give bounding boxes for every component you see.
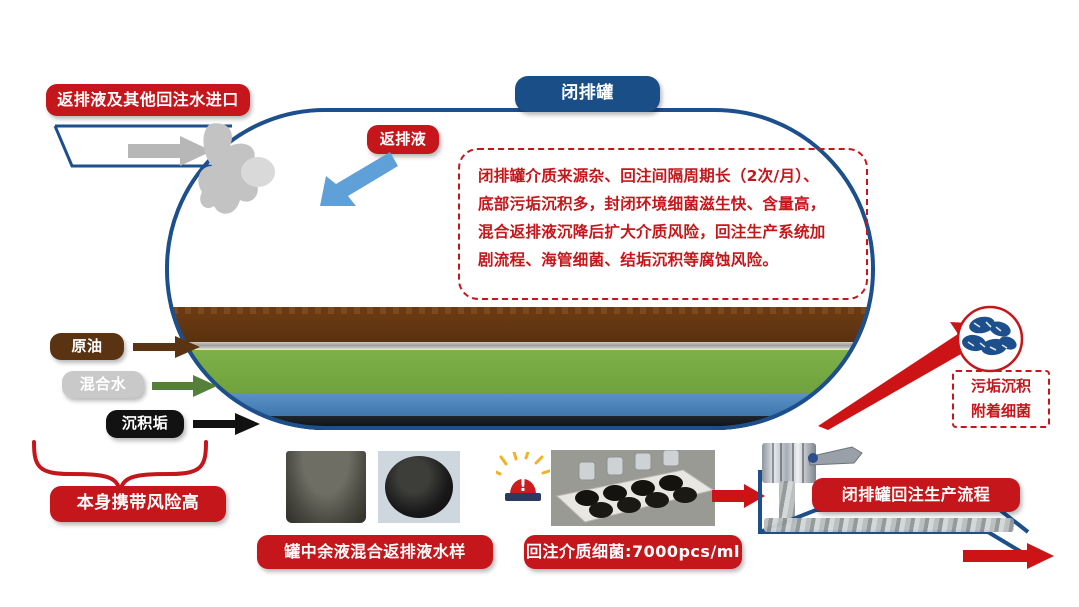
- diagram-canvas: 闭排罐 返排液及其他回注水进口 返排液 闭排罐介质来源杂、回注间隔周期长（2次/…: [0, 0, 1079, 607]
- layer-label-sediment-scale-text: 沉积垢: [122, 415, 169, 432]
- blue-diagonal-arrow-icon: [312, 150, 398, 210]
- layer-label-mixed-water-text: 混合水: [80, 376, 127, 393]
- photo-bacteria-test-vials: [551, 450, 715, 526]
- risk-summary-label-text: 本身携带风险高: [77, 494, 200, 514]
- callout-line-2: 底部污垢沉积多，封闭环境细菌滋生快、含量高，: [478, 190, 850, 218]
- caption-bacteria-count-text: 回注介质细菌:7000pcs/ml: [526, 543, 740, 561]
- diagram-title-label: 闭排罐: [561, 84, 614, 104]
- risk-description-callout: 闭排罐介质来源杂、回注间隔周期长（2次/月）、 底部污垢沉积多，封闭环境细菌滋生…: [458, 148, 868, 300]
- inlet-label: 返排液及其他回注水进口: [46, 84, 250, 116]
- process-flow-label-text: 闭排罐回注生产流程: [842, 486, 991, 504]
- layer-label-crude-oil: 原油: [50, 333, 124, 360]
- callout-line-3: 混合返排液沉降后扩大介质风险，回注生产系统加: [478, 218, 850, 246]
- layer-label-crude-oil-text: 原油: [71, 338, 102, 355]
- layer-label-mixed-water: 混合水: [62, 371, 144, 398]
- water-splash-icon: [196, 120, 278, 230]
- caption-bacteria-count: 回注介质细菌:7000pcs/ml: [524, 535, 742, 569]
- inlet-label-text: 返排液及其他回注水进口: [57, 91, 239, 109]
- flowback-label-text: 返排液: [380, 131, 427, 148]
- brown-right-arrow-icon: [133, 336, 201, 358]
- photo-tank-residue-cylinder: [286, 451, 366, 523]
- risk-summary-label: 本身携带风险高: [50, 486, 226, 522]
- callout-line-4: 剧流程、海管细菌、结垢沉积等腐蚀风险。: [478, 246, 850, 274]
- svg-text:!: !: [519, 476, 527, 496]
- black-right-arrow-icon: [193, 413, 261, 435]
- valve-handle-icon: [808, 445, 864, 471]
- bacteria-deposit-callout: 污垢沉积 附着细菌: [952, 370, 1050, 428]
- photo-residue-bowl-inner: [385, 456, 452, 518]
- bacteria-cluster-icon: [952, 305, 1028, 377]
- process-flow-label: 闭排罐回注生产流程: [812, 478, 1020, 512]
- layer-label-sediment-scale: 沉积垢: [106, 410, 184, 438]
- vial-rack-illustration: [551, 450, 715, 526]
- callout-line-1: 闭排罐介质来源杂、回注间隔周期长（2次/月）、: [478, 162, 850, 190]
- diagram-title-banner: 闭排罐: [515, 76, 660, 112]
- caption-residue-sample-text: 罐中余液混合返排液水样: [284, 543, 466, 561]
- alarm-beacon-icon: !: [496, 452, 550, 504]
- caption-residue-sample: 罐中余液混合返排液水样: [257, 535, 493, 569]
- photo-residue-bowl: [378, 451, 460, 523]
- bacteria-callout-line-1: 污垢沉积: [971, 374, 1031, 399]
- bacteria-callout-line-2: 附着细菌: [971, 399, 1031, 424]
- pipeline-sludge-deposit: [764, 518, 1014, 532]
- green-right-arrow-icon: [152, 375, 218, 397]
- red-right-arrow-icon-outflow: [963, 543, 1055, 569]
